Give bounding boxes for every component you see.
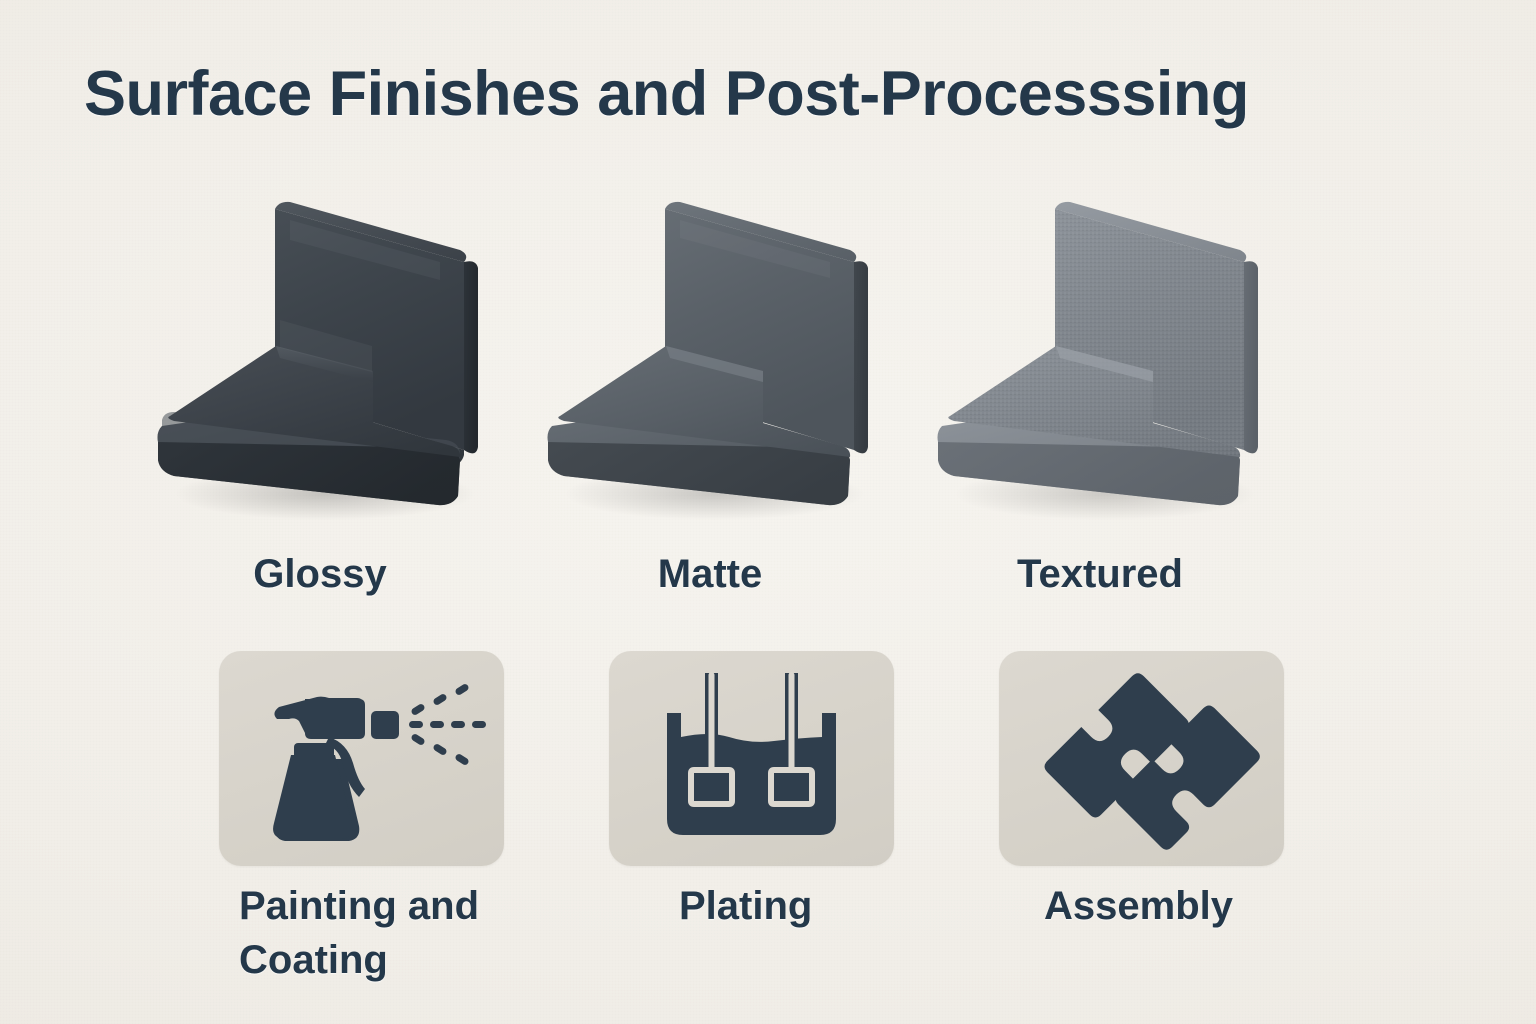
plating-tank-icon	[609, 651, 894, 866]
finish-label: Glossy	[140, 552, 500, 597]
process-label: Plating	[679, 879, 1009, 933]
finish-item-glossy: Glossy	[140, 160, 500, 560]
infographic-page: Surface Finishes and Post-Processsing	[0, 0, 1536, 1024]
process-item-plating[interactable]: Plating	[609, 651, 894, 866]
process-label: Assembly	[1044, 879, 1374, 933]
puzzle-pieces-icon	[999, 651, 1284, 866]
process-card[interactable]	[999, 651, 1284, 866]
spray-bottle-icon	[219, 651, 504, 866]
l-bracket-3d-matte-icon	[530, 160, 890, 530]
finish-item-matte: Matte	[530, 160, 890, 560]
finish-label: Matte	[530, 552, 890, 597]
l-bracket-3d-glossy-icon	[140, 160, 500, 530]
process-card[interactable]	[609, 651, 894, 866]
l-bracket-3d-textured-icon	[920, 160, 1280, 530]
finish-label: Textured	[920, 552, 1280, 597]
process-item-painting-and-coating[interactable]: Painting and Coating	[219, 651, 504, 866]
process-card[interactable]	[219, 651, 504, 866]
process-label: Painting and Coating	[239, 879, 569, 987]
process-item-assembly[interactable]: Assembly	[999, 651, 1284, 866]
page-title: Surface Finishes and Post-Processsing	[84, 58, 1249, 130]
finish-item-textured: Textured	[920, 160, 1280, 560]
